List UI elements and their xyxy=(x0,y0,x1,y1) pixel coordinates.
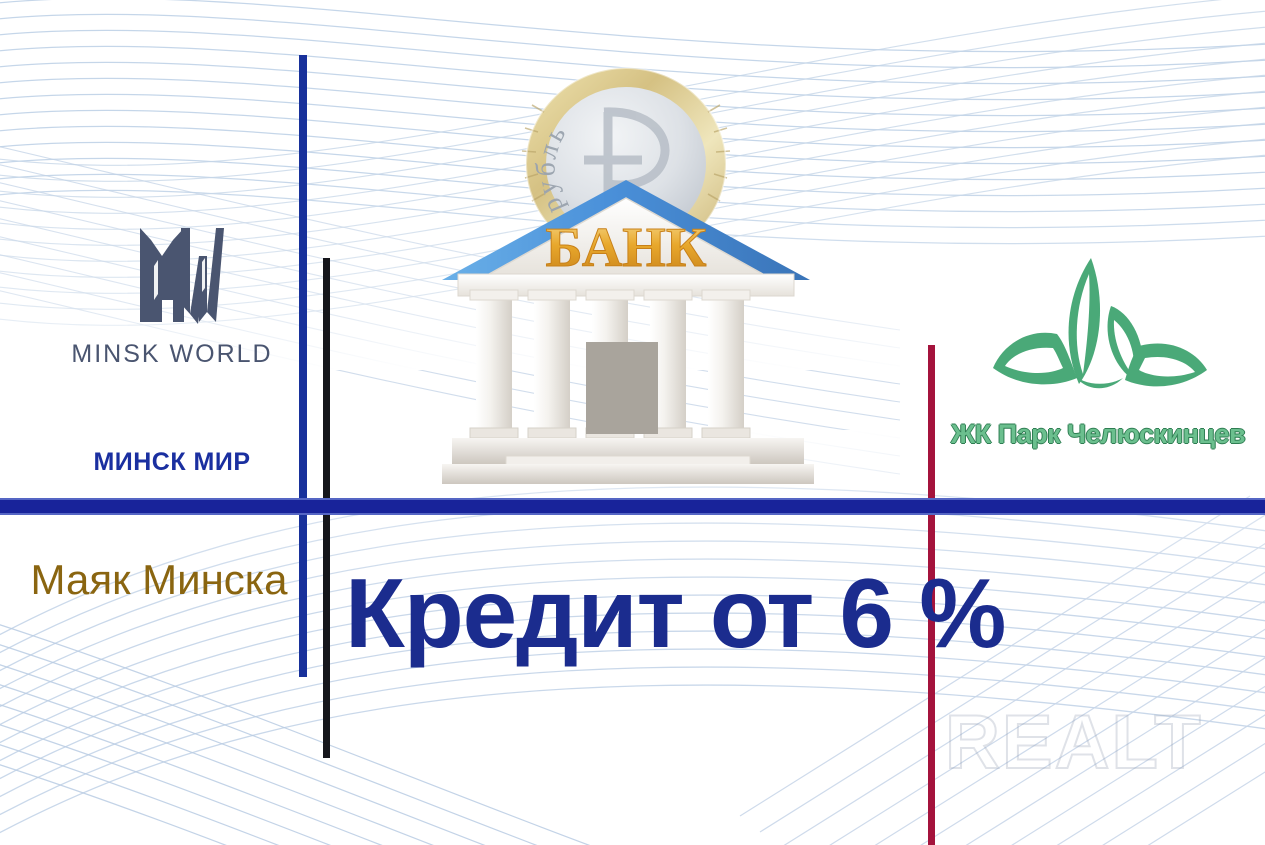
green-leaves-icon xyxy=(983,250,1213,415)
bank-illustration: рубль БАНК xyxy=(418,52,838,492)
headline-credit-rate: Кредит от 6 % xyxy=(345,562,925,665)
divider-horizontal-blue xyxy=(0,498,1265,515)
minsk-world-wordmark: MINSK WORLD xyxy=(52,340,292,369)
mw-monogram-icon xyxy=(118,222,226,330)
brand-park-chelyuskintsev: ЖК Парк Челюскинцев xyxy=(938,250,1258,450)
mayak-minska-label: Маяк Минска xyxy=(28,556,290,604)
bank-sign-text: БАНК xyxy=(546,217,707,279)
minsk-mir-label: МИНСК МИР xyxy=(52,448,292,477)
divider-vertical-blue xyxy=(299,55,307,677)
promo-poster: REALT xyxy=(0,0,1265,845)
brand-minsk-world: MINSK WORLD xyxy=(52,222,292,369)
park-chelyuskintsev-label: ЖК Парк Челюскинцев xyxy=(938,419,1258,450)
realt-watermark: REALT xyxy=(945,705,1235,780)
